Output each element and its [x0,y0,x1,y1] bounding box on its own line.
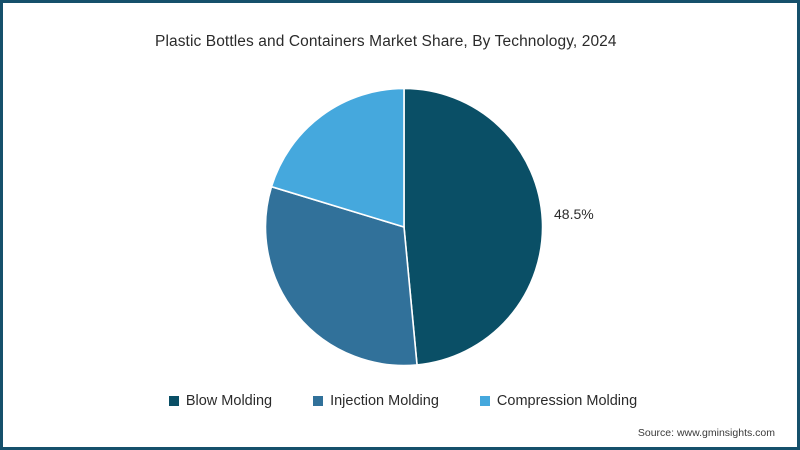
legend-item-label: Injection Molding [330,393,439,409]
pie-slice [404,88,543,364]
legend-item-label: Compression Molding [497,393,637,409]
legend-swatch-icon [480,396,490,406]
pie-slice-group [266,88,543,365]
legend-item[interactable]: Blow Molding [169,393,272,409]
legend-item[interactable]: Injection Molding [313,393,439,409]
legend-item[interactable]: Compression Molding [480,393,637,409]
legend-item-label: Blow Molding [186,393,272,409]
source-attribution: Source: www.gminsights.com [638,427,775,439]
page-title: Plastic Bottles and Containers Market Sh… [155,33,617,51]
chart-legend: Blow MoldingInjection MoldingCompression… [3,393,800,409]
slice-percentage-label-blow-molding: 48.5% [554,206,594,222]
chart-figure: Plastic Bottles and Containers Market Sh… [0,0,800,450]
pie-chart [265,88,543,366]
legend-swatch-icon [313,396,323,406]
legend-swatch-icon [169,396,179,406]
pie-svg [265,88,543,366]
